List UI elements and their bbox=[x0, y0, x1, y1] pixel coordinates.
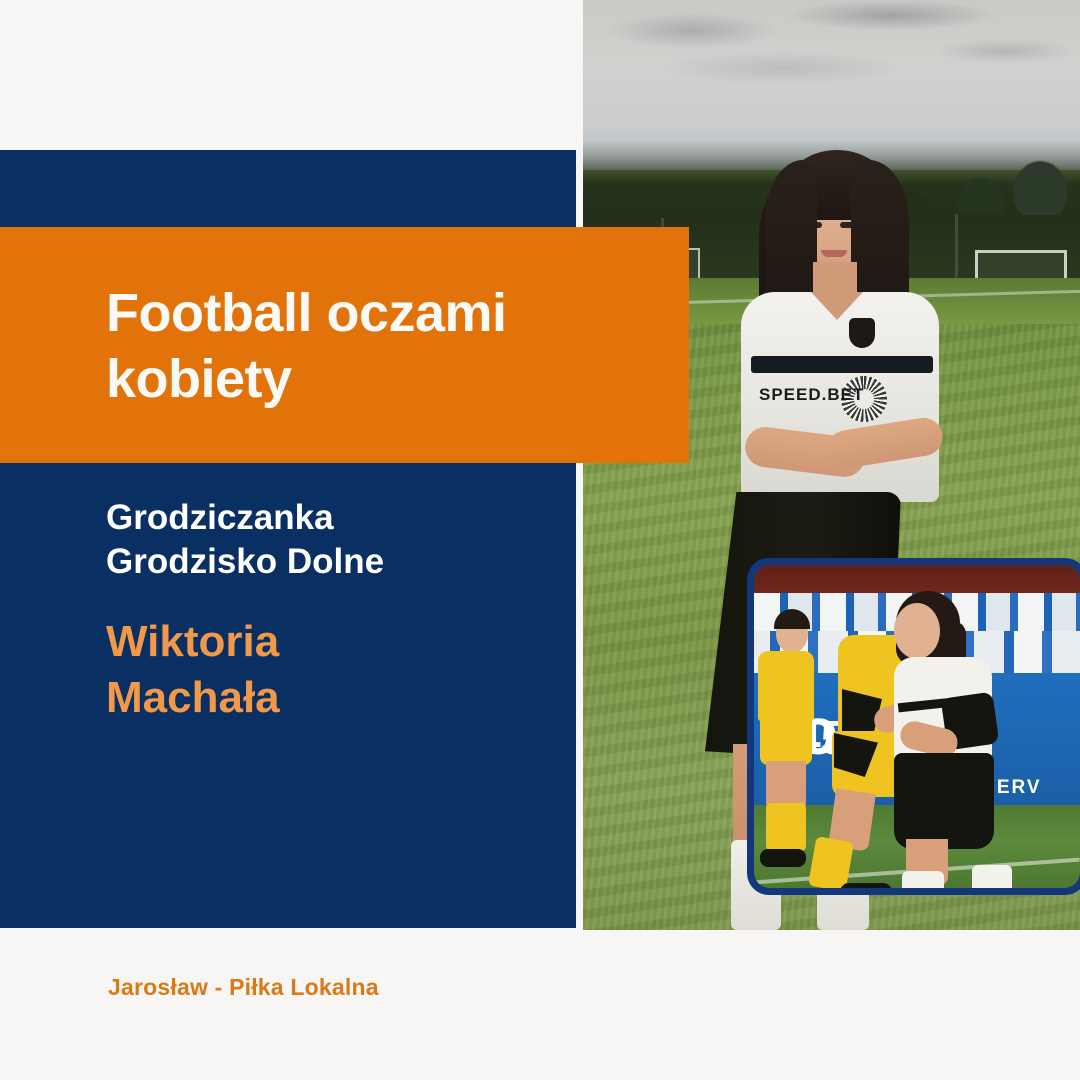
club-name: Grodziczanka Grodzisko Dolne bbox=[106, 496, 576, 585]
jersey-sponsor-text: SPEED.BET bbox=[759, 385, 925, 419]
inset-player-bg-jersey bbox=[758, 651, 814, 721]
inset-player-white-sock bbox=[902, 871, 944, 888]
player-name: Wiktoria Machała bbox=[106, 614, 576, 727]
jersey-badge bbox=[849, 318, 875, 348]
inset-player-bg-socks bbox=[766, 803, 806, 851]
page-title: Football oczami kobiety bbox=[106, 281, 666, 413]
poster-canvas: SPEED.BET Football oczami kobiety Grodzi… bbox=[0, 0, 1080, 1080]
inset-player-white-head bbox=[894, 603, 940, 659]
inset-player-white-sock-2 bbox=[972, 865, 1012, 888]
player-jersey-band bbox=[751, 356, 933, 373]
inset-player-yellow-boot bbox=[840, 883, 892, 888]
inset-player-bg-legs bbox=[766, 761, 806, 809]
footer-credit: Jarosław - Piłka Lokalna bbox=[108, 974, 379, 1001]
inset-photo-frame: 45 oec FOOD SERV bbox=[747, 558, 1080, 895]
inset-player-bg-shorts bbox=[760, 717, 812, 765]
inset-photo: 45 oec FOOD SERV bbox=[754, 565, 1080, 888]
inset-player-bg-boots bbox=[760, 849, 806, 867]
player-mouth bbox=[821, 250, 847, 257]
inset-player-white-shorts bbox=[894, 753, 994, 849]
inset-player-yellow-sock bbox=[808, 836, 854, 888]
